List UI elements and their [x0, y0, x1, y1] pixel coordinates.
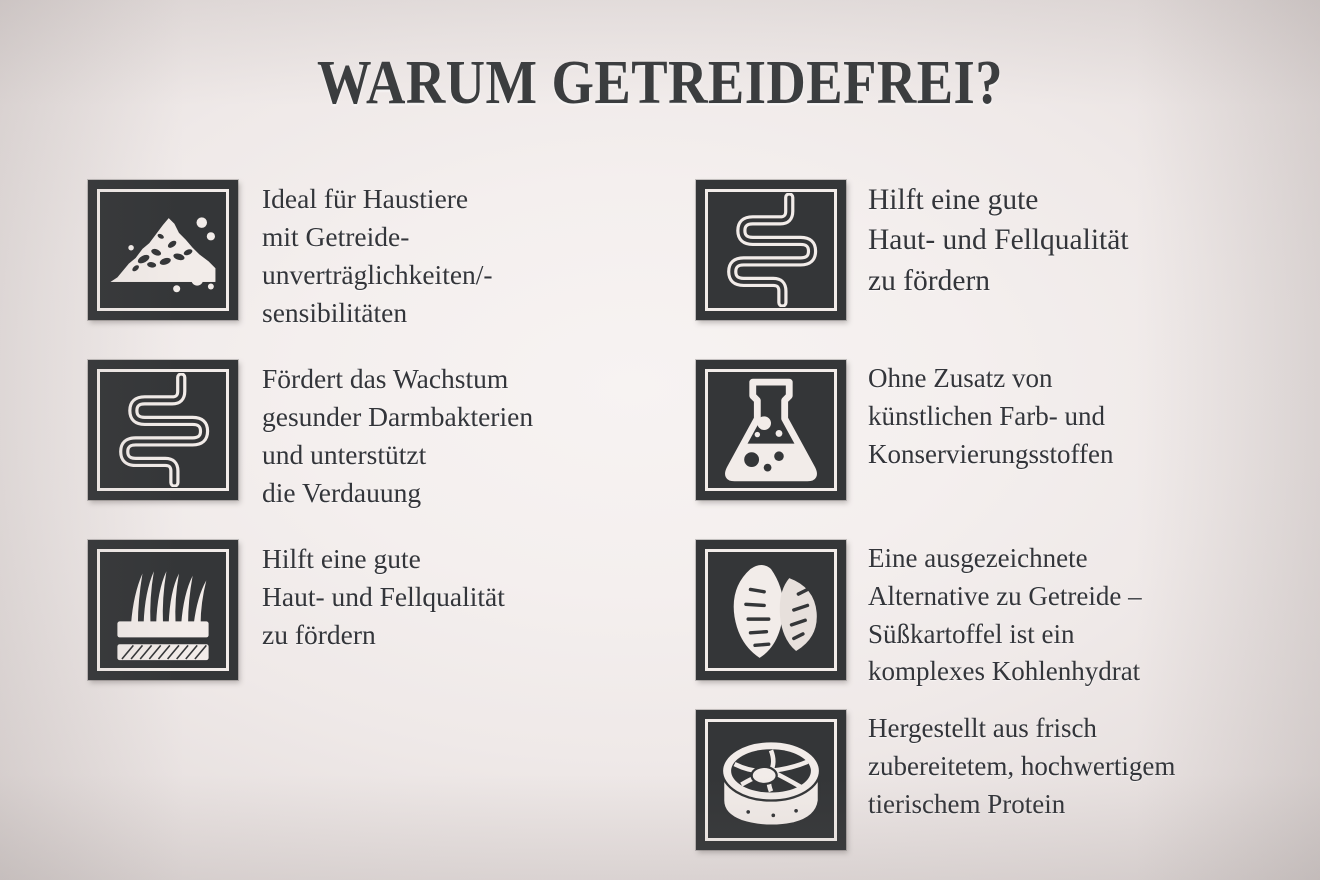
fur-coat-icon [88, 540, 238, 680]
benefit-text: Eine ausgezeichnete Alternative zu Getre… [868, 540, 1142, 691]
intestine-glyph [709, 193, 833, 307]
intestine-icon [88, 360, 238, 500]
benefit-item: Hilft eine gute Haut- und Fellqualität z… [88, 540, 505, 680]
benefit-item: Eine ausgezeichnete Alternative zu Getre… [696, 540, 1142, 691]
grain-pile-glyph [101, 193, 225, 307]
benefit-item: Hergestellt aus frisch zubereitetem, hoc… [696, 710, 1175, 850]
intestine-glyph [101, 373, 225, 487]
sweet-potato-icon [696, 540, 846, 680]
steak-icon [696, 710, 846, 850]
benefit-item: Hilft eine gute Haut- und Fellqualität z… [696, 180, 1129, 320]
grain-pile-icon [88, 180, 238, 320]
fur-coat-glyph [101, 553, 225, 667]
steak-glyph [709, 723, 833, 837]
benefit-item: Ideal für Haustiere mit Getreide- unvert… [88, 180, 493, 332]
intestine-icon [696, 180, 846, 320]
infographic-poster: WARUM GETREIDEFREI? [0, 0, 1320, 880]
benefit-text: Hilft eine gute Haut- und Fellqualität z… [868, 180, 1129, 301]
flask-glyph [709, 373, 833, 487]
flask-icon [696, 360, 846, 500]
page-title: WARUM GETREIDEFREI? [79, 52, 1241, 114]
sweet-potato-glyph [709, 553, 833, 667]
benefit-item: Fördert das Wachstum gesunder Darmbakter… [88, 360, 533, 512]
benefit-text: Fördert das Wachstum gesunder Darmbakter… [262, 360, 533, 512]
benefit-text: Ideal für Haustiere mit Getreide- unvert… [262, 180, 493, 332]
benefit-item: Ohne Zusatz von künstlichen Farb- und Ko… [696, 360, 1113, 500]
benefit-text: Ohne Zusatz von künstlichen Farb- und Ko… [868, 360, 1113, 473]
benefit-text: Hilft eine gute Haut- und Fellqualität z… [262, 540, 505, 654]
benefit-text: Hergestellt aus frisch zubereitetem, hoc… [868, 710, 1175, 823]
